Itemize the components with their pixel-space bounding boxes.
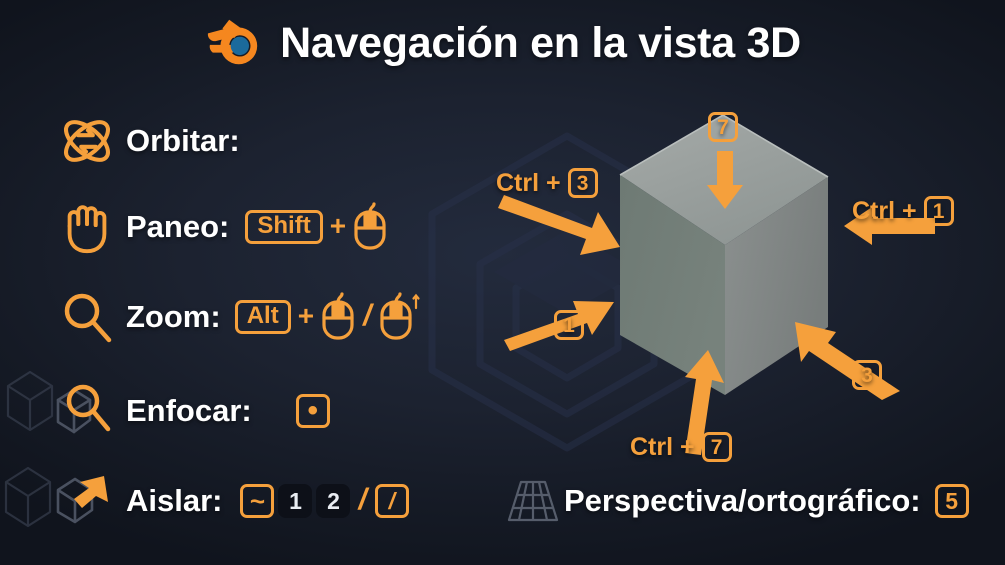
- header: Navegación en la vista 3D: [0, 14, 1005, 72]
- hand-icon: [48, 197, 126, 257]
- numpad-period-key[interactable]: •: [296, 394, 330, 428]
- callout-right: 3: [852, 360, 882, 390]
- key-1[interactable]: 1: [554, 310, 584, 340]
- key-tilde[interactable]: ~: [240, 484, 274, 518]
- shortcut-label-enfocar: Enfocar:: [126, 393, 252, 429]
- middle-mouse-button-icon[interactable]: [321, 294, 355, 340]
- shortcut-row-enfocar: Enfocar: •: [48, 382, 330, 440]
- key-2[interactable]: 2: [316, 484, 350, 518]
- shortcut-label-aislar: Aislar:: [126, 483, 222, 519]
- shortcut-label-zoom: Zoom:: [126, 299, 221, 335]
- key-5[interactable]: 5: [935, 484, 969, 518]
- slash-separator: /: [350, 483, 374, 519]
- scroll-wheel-icon[interactable]: [379, 294, 423, 340]
- key-3[interactable]: 3: [852, 360, 882, 390]
- viewport-cube-diagram: [480, 95, 950, 485]
- shortcut-row-paneo: Paneo: Shift +: [48, 197, 387, 257]
- perspective-label: Perspectiva/ortográfico:: [564, 483, 921, 519]
- callout-top: 7: [708, 112, 738, 142]
- key-1[interactable]: 1: [924, 196, 954, 226]
- callout-upper-left: Ctrl + 3: [496, 168, 598, 198]
- callout-prefix: Ctrl +: [496, 169, 561, 198]
- numpad-slash-key[interactable]: /: [375, 484, 409, 518]
- infographic-canvas: Navegación en la vista 3D Orbitar: Paneo…: [0, 0, 1005, 565]
- callout-prefix: Ctrl +: [852, 197, 917, 226]
- shortcut-row-orbitar: Orbitar:: [48, 110, 240, 172]
- arrow-down-right: [498, 195, 620, 255]
- key-3[interactable]: 3: [568, 168, 598, 198]
- orbit-icon: [48, 110, 126, 172]
- key-7[interactable]: 7: [702, 432, 732, 462]
- magnifier-cube-icon: [48, 382, 126, 440]
- callout-prefix: Ctrl +: [630, 433, 695, 462]
- shortcut-label-orbitar: Orbitar:: [126, 123, 240, 159]
- slash-separator: /: [355, 299, 379, 335]
- cube-arrow-icon: [48, 472, 126, 530]
- plus-separator: +: [291, 300, 321, 335]
- key-alt[interactable]: Alt: [235, 300, 291, 334]
- callout-left: 1: [554, 310, 584, 340]
- key-7[interactable]: 7: [708, 112, 738, 142]
- key-1[interactable]: 1: [278, 484, 312, 518]
- callout-upper-right: Ctrl + 1: [852, 196, 954, 226]
- page-title: Navegación en la vista 3D: [280, 19, 801, 68]
- magnifier-icon: [48, 288, 126, 346]
- key-shift[interactable]: Shift: [245, 210, 322, 244]
- shortcut-label-paneo: Paneo:: [126, 209, 229, 245]
- callout-bottom: Ctrl + 7: [630, 432, 732, 462]
- plus-separator: +: [323, 210, 353, 245]
- middle-mouse-button-icon[interactable]: [353, 204, 387, 250]
- shortcut-row-aislar: Aislar: ~ 1 2 / /: [48, 472, 409, 530]
- shortcut-row-zoom: Zoom: Alt + /: [48, 288, 423, 346]
- arrow-up-left: [795, 322, 900, 400]
- blender-logo-icon: [204, 14, 266, 72]
